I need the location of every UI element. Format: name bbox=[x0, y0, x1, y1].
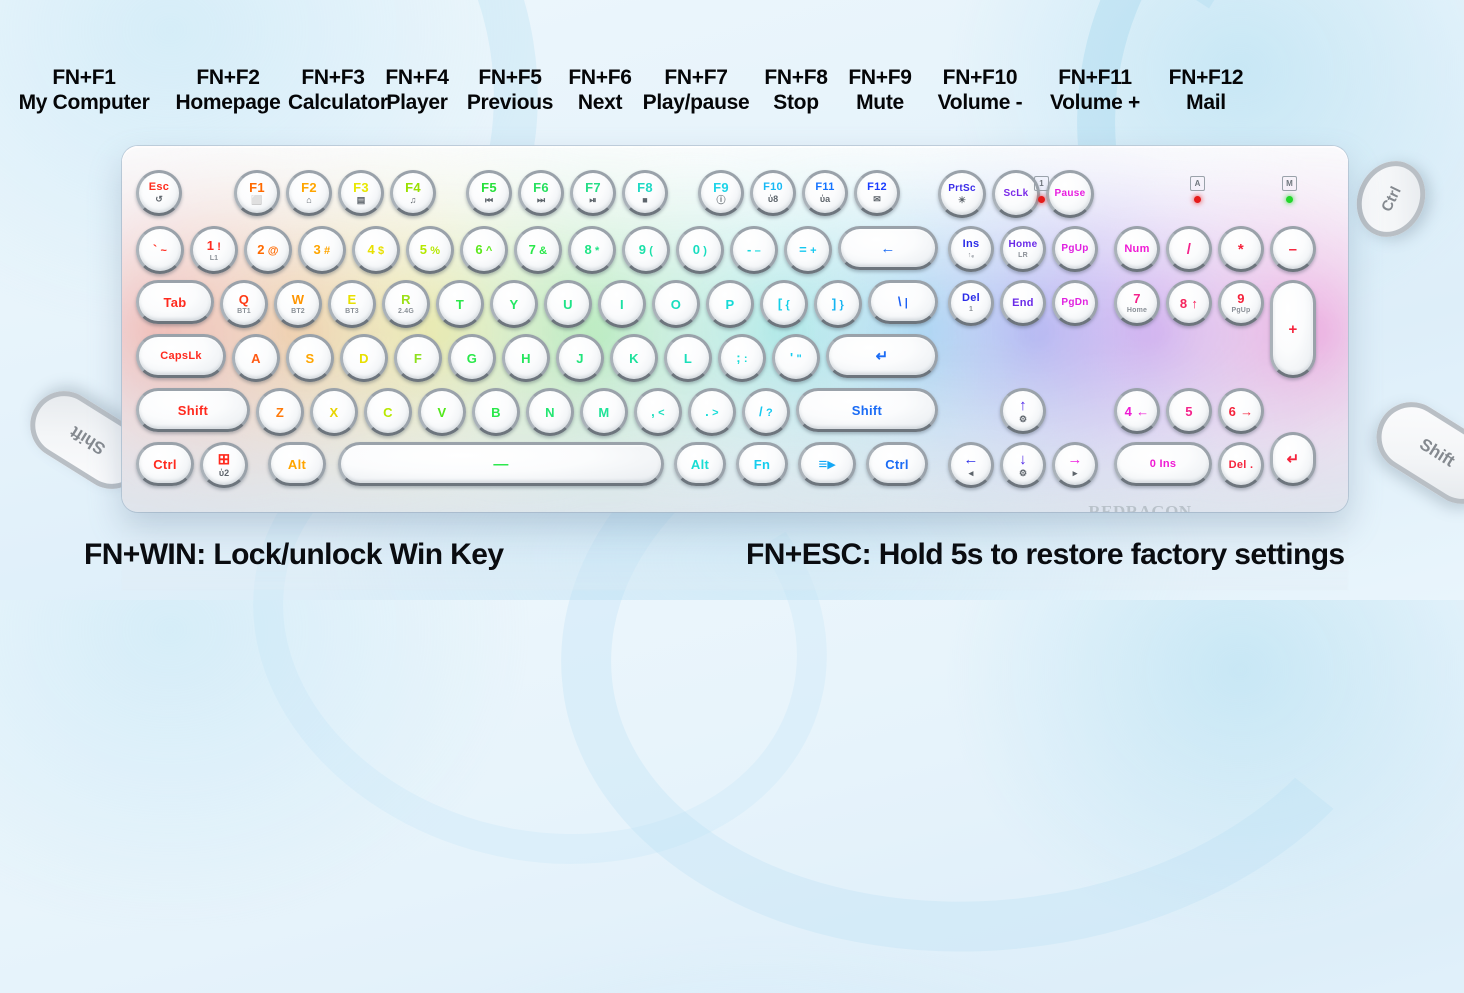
key-legend-secondary: – bbox=[755, 246, 761, 257]
key-legend: 8 ↑ bbox=[1180, 297, 1198, 310]
key-legend: ↵ bbox=[876, 349, 889, 364]
fn-shortcut-function: Previous bbox=[456, 91, 564, 116]
key-legend: 3# bbox=[314, 243, 331, 257]
key-legend: V bbox=[438, 406, 447, 419]
key-legend-secondary: ~ bbox=[160, 246, 167, 257]
fn-shortcut-function: Volume + bbox=[1036, 91, 1154, 116]
key-function-icon: ☀ bbox=[958, 196, 966, 205]
fn-shortcut-combo: FN+F5 bbox=[456, 66, 564, 91]
key-insert[interactable]: Ins↑ₑ bbox=[948, 226, 994, 272]
indicator-label: A bbox=[1190, 176, 1205, 191]
key-function-icon: ⌂ bbox=[306, 196, 311, 205]
key-legend: F5 bbox=[481, 181, 497, 194]
key-minus[interactable]: -– bbox=[730, 226, 778, 274]
key-legend: F9 bbox=[713, 181, 729, 194]
key-legend: '" bbox=[790, 351, 802, 365]
fn-shortcut-combo: FN+F9 bbox=[836, 66, 924, 91]
key-esc[interactable]: Esc↺ bbox=[136, 170, 182, 216]
key-legend: Q bbox=[239, 293, 249, 306]
key-numpad-multiply[interactable]: * bbox=[1218, 226, 1264, 272]
key-legend: Y bbox=[510, 298, 519, 311]
key-win[interactable]: ⊞ὑ2 bbox=[200, 442, 248, 488]
key-f4[interactable]: F4♫ bbox=[390, 170, 436, 216]
key-legend: Ins bbox=[963, 239, 980, 250]
key-function-icon: ὐ8 bbox=[768, 195, 778, 204]
key-legend: 6 → bbox=[1229, 405, 1254, 418]
fn-shortcut-combo: FN+F7 bbox=[636, 66, 756, 91]
key-numpad-5[interactable]: 5 bbox=[1166, 388, 1212, 434]
key-legend-primary: 1 bbox=[207, 239, 215, 252]
key-legend: Shift bbox=[178, 404, 208, 417]
key-sublegend: BT2 bbox=[291, 308, 305, 315]
key-period[interactable]: .> bbox=[688, 388, 736, 436]
key-legend-primary: 9 bbox=[639, 243, 647, 256]
key-legend: /? bbox=[759, 405, 773, 419]
key-h[interactable]: H bbox=[502, 334, 550, 382]
key-menu[interactable]: ≡▸ bbox=[798, 442, 856, 486]
keyboard-keys-layer: Esc↺F1⬜F2⌂F3▤F4♫F5⏮F6⏭F7⏯F8■F9ⓘF10ὐ8F11ὐ… bbox=[122, 146, 1348, 512]
key-legend-secondary: ! bbox=[217, 242, 221, 253]
key-legend: + bbox=[1288, 322, 1297, 337]
key-legend: 7 bbox=[1133, 292, 1141, 305]
key-legend: F11 bbox=[815, 182, 834, 193]
key-4[interactable]: 4$ bbox=[352, 226, 400, 274]
key-legend: F bbox=[414, 352, 422, 365]
key-legend: / bbox=[1187, 242, 1191, 257]
key-numpad-divide[interactable]: / bbox=[1166, 226, 1212, 272]
key-legend: R bbox=[401, 293, 411, 306]
key-legend-primary: / bbox=[759, 405, 763, 418]
key-space[interactable]: — bbox=[338, 442, 664, 486]
key-legend: ↑ bbox=[1019, 398, 1027, 413]
key-legend: * bbox=[1238, 242, 1244, 257]
key-m[interactable]: M bbox=[580, 388, 628, 436]
key-comma[interactable]: ,< bbox=[634, 388, 682, 436]
key-legend: 7& bbox=[529, 243, 548, 257]
key-legend: 0 Ins bbox=[1150, 459, 1177, 470]
key-legend: 2@ bbox=[257, 243, 279, 257]
key-numpad-enter[interactable]: ↵ bbox=[1270, 432, 1316, 486]
key-legend: ≡▸ bbox=[819, 457, 836, 472]
key-capslock[interactable]: CapsLk bbox=[136, 334, 226, 378]
key-legend: -– bbox=[747, 243, 761, 257]
key-numpad-decimal[interactable]: Del . bbox=[1218, 442, 1264, 488]
key-legend-primary: 4 bbox=[368, 243, 376, 256]
key-legend: 5 bbox=[1185, 405, 1193, 418]
key-legend-secondary: % bbox=[430, 246, 440, 257]
key-numpad-8[interactable]: 8 ↑ bbox=[1166, 280, 1212, 326]
indicator-caps-lock: A bbox=[1190, 176, 1205, 203]
key-numlock[interactable]: Num bbox=[1114, 226, 1160, 272]
key-d[interactable]: D bbox=[340, 334, 388, 382]
key-equal[interactable]: =+ bbox=[784, 226, 832, 274]
key-function-icon: ⬜ bbox=[251, 196, 262, 205]
key-arrow-up[interactable]: ↑⚙ bbox=[1000, 388, 1046, 434]
key-i[interactable]: I bbox=[598, 280, 646, 328]
key-sublegend: BT3 bbox=[345, 308, 359, 315]
fn-shortcut-combo: FN+F3 bbox=[288, 66, 378, 91]
key-function-icon: ⏭ bbox=[537, 196, 545, 205]
key-pagedown[interactable]: PgDn bbox=[1052, 280, 1098, 326]
key-legend: ;: bbox=[736, 351, 748, 365]
fn-shortcut-function: Stop bbox=[756, 91, 836, 116]
key-legend: PrtSc bbox=[948, 184, 976, 194]
fn-shortcut-function: Player bbox=[378, 91, 456, 116]
key-legend: Alt bbox=[288, 458, 306, 471]
key-legend: D bbox=[359, 352, 369, 365]
key-legend: L bbox=[684, 352, 692, 365]
key-legend: S bbox=[306, 352, 315, 365]
key-legend: F6 bbox=[533, 181, 549, 194]
key-ctrl-right[interactable]: Ctrl bbox=[866, 442, 928, 486]
key-6[interactable]: 6^ bbox=[460, 226, 508, 274]
key-legend-secondary: ( bbox=[649, 246, 653, 257]
key-legend: Pause bbox=[1055, 189, 1086, 199]
key-slash[interactable]: /? bbox=[742, 388, 790, 436]
indicator-label: M bbox=[1282, 176, 1297, 191]
fn-shortcut-combo: FN+F8 bbox=[756, 66, 836, 91]
key-p[interactable]: P bbox=[706, 280, 754, 328]
key-7[interactable]: 7& bbox=[514, 226, 562, 274]
fn-shortcut-function: Play/pause bbox=[636, 91, 756, 116]
key-numpad-plus[interactable]: + bbox=[1270, 280, 1316, 378]
key-legend: → bbox=[1067, 452, 1082, 467]
key-legend: 0) bbox=[693, 243, 708, 257]
key-legend: P bbox=[726, 298, 735, 311]
key-numpad-7[interactable]: 7Home bbox=[1114, 280, 1160, 326]
key-legend: 9 bbox=[1237, 292, 1245, 305]
key-home[interactable]: HomeLR bbox=[1000, 226, 1046, 272]
key-bracket-right[interactable]: ]} bbox=[814, 280, 862, 328]
key-legend-primary: ] bbox=[832, 297, 837, 310]
redragon-logo: REDRAGON bbox=[1080, 502, 1200, 512]
fn-shortcut-combo: FN+F11 bbox=[1036, 66, 1154, 91]
key-b[interactable]: B bbox=[472, 388, 520, 436]
key-n[interactable]: N bbox=[526, 388, 574, 436]
key-legend: ⊞ bbox=[218, 452, 231, 467]
indicator-led-dot bbox=[1038, 196, 1045, 203]
key-function-icon: ⚙ bbox=[1019, 469, 1027, 478]
key-function-icon: ⚙ bbox=[1019, 415, 1027, 424]
key-legend: =+ bbox=[799, 243, 817, 257]
key-l[interactable]: L bbox=[664, 334, 712, 382]
fn-shortcut-function: Volume - bbox=[924, 91, 1036, 116]
floating-keycap-ctrl: Ctrl bbox=[1344, 149, 1438, 248]
key-2[interactable]: 2@ bbox=[244, 226, 292, 274]
key-legend-secondary: > bbox=[712, 408, 719, 419]
key-legend: Del . bbox=[1229, 460, 1254, 471]
key-t[interactable]: T bbox=[436, 280, 484, 328]
key-function-icon: ✉ bbox=[873, 195, 881, 204]
key-f9[interactable]: F9ⓘ bbox=[698, 170, 744, 216]
key-legend: O bbox=[671, 298, 681, 311]
key-legend: 4 ← bbox=[1125, 405, 1150, 418]
key-backtick[interactable]: `~ bbox=[136, 226, 184, 274]
indicator-label: 1 bbox=[1034, 176, 1049, 191]
key-legend: 1! bbox=[207, 239, 222, 253]
key-delete[interactable]: Del1 bbox=[948, 280, 994, 326]
key-q[interactable]: QBT1 bbox=[220, 280, 268, 328]
key-numpad-4[interactable]: 4 ← bbox=[1114, 388, 1160, 434]
key-numpad-0[interactable]: 0 Ins bbox=[1114, 442, 1212, 486]
key-scrolllock[interactable]: ScLk bbox=[992, 170, 1040, 218]
fn-shortcut-5: FN+F5Previous bbox=[456, 66, 564, 116]
fn-shortcut-combo: FN+F1 bbox=[0, 66, 168, 91]
key-legend-secondary: $ bbox=[378, 246, 384, 257]
key-function-icon: ↺ bbox=[155, 195, 163, 204]
fn-shortcut-9: FN+F9Mute bbox=[836, 66, 924, 116]
key-legend-primary: 3 bbox=[314, 243, 322, 256]
key-legend-primary: 8 bbox=[584, 243, 592, 256]
key-legend: C bbox=[383, 406, 393, 419]
key-legend-secondary: # bbox=[324, 246, 330, 257]
key-v[interactable]: V bbox=[418, 388, 466, 436]
key-legend: F7 bbox=[585, 181, 601, 194]
key-legend: U bbox=[563, 298, 573, 311]
key-numpad-minus[interactable]: – bbox=[1270, 226, 1316, 272]
key-legend: – bbox=[1289, 242, 1298, 257]
key-x[interactable]: X bbox=[310, 388, 358, 436]
key-arrow-right[interactable]: →▸ bbox=[1052, 442, 1098, 488]
key-y[interactable]: Y bbox=[490, 280, 538, 328]
fn-shortcut-function: Mute bbox=[836, 91, 924, 116]
key-function-icon: ὑ2 bbox=[219, 469, 229, 478]
indicator-led-dot bbox=[1194, 196, 1201, 203]
key-pageup[interactable]: PgUp bbox=[1052, 226, 1098, 272]
key-u[interactable]: U bbox=[544, 280, 592, 328]
key-legend: J bbox=[576, 352, 584, 365]
key-legend: G bbox=[467, 352, 477, 365]
key-legend: ,< bbox=[651, 405, 665, 419]
key-legend: F2 bbox=[301, 181, 317, 194]
fn-shortcut-8: FN+F8Stop bbox=[756, 66, 836, 116]
key-legend-primary: ' bbox=[790, 351, 793, 364]
key-semicolon[interactable]: ;: bbox=[718, 334, 766, 382]
key-legend-primary: ` bbox=[153, 243, 158, 256]
fn-shortcut-combo: FN+F10 bbox=[924, 66, 1036, 91]
key-8[interactable]: 8* bbox=[568, 226, 616, 274]
key-3[interactable]: 3# bbox=[298, 226, 346, 274]
fn-shortcut-header: FN+F1My ComputerFN+F2HomepageFN+F3Calcul… bbox=[0, 66, 1464, 116]
key-legend-primary: 2 bbox=[257, 243, 265, 256]
key-quote[interactable]: '" bbox=[772, 334, 820, 382]
key-legend: PgUp bbox=[1061, 244, 1088, 254]
key-legend-secondary: * bbox=[595, 246, 600, 257]
key-sublegend: Home bbox=[1127, 307, 1147, 314]
fn-shortcut-3: FN+F3Calculator bbox=[288, 66, 378, 116]
key-pause[interactable]: Pause bbox=[1046, 170, 1094, 218]
key-f12[interactable]: F12✉ bbox=[854, 170, 900, 216]
indicator-mode: M bbox=[1282, 176, 1297, 203]
key-9[interactable]: 9( bbox=[622, 226, 670, 274]
key-legend: ScLk bbox=[1003, 189, 1028, 199]
key-numpad-9[interactable]: 9PgUp bbox=[1218, 280, 1264, 326]
key-sublegend: L1 bbox=[210, 255, 219, 262]
key-f[interactable]: F bbox=[394, 334, 442, 382]
key-legend-primary: = bbox=[799, 243, 807, 256]
key-legend: A bbox=[251, 352, 261, 365]
key-legend-primary: , bbox=[651, 405, 655, 418]
key-legend: Del bbox=[962, 293, 980, 304]
key-a[interactable]: A bbox=[232, 334, 280, 382]
key-legend: H bbox=[521, 352, 531, 365]
key-legend: F10 bbox=[763, 182, 783, 193]
key-legend: Num bbox=[1124, 244, 1149, 255]
key-backspace[interactable]: ← bbox=[838, 226, 938, 270]
key-legend-secondary: ) bbox=[703, 246, 707, 257]
key-legend: ↓ bbox=[1019, 452, 1027, 467]
key-sublegend: LR bbox=[1018, 252, 1028, 259]
key-0[interactable]: 0) bbox=[676, 226, 724, 274]
key-g[interactable]: G bbox=[448, 334, 496, 382]
key-f2[interactable]: F2⌂ bbox=[286, 170, 332, 216]
key-sublegend: ↑ₑ bbox=[968, 252, 975, 259]
key-j[interactable]: J bbox=[556, 334, 604, 382]
key-legend: 6^ bbox=[475, 243, 492, 257]
fn-shortcut-function: Mail bbox=[1154, 91, 1258, 116]
key-tab[interactable]: Tab bbox=[136, 280, 214, 324]
key-backslash[interactable]: \| bbox=[868, 280, 938, 324]
key-sublegend: BT1 bbox=[237, 308, 251, 315]
key-legend: `~ bbox=[153, 243, 167, 257]
key-w[interactable]: WBT2 bbox=[274, 280, 322, 328]
fn-shortcut-7: FN+F7Play/pause bbox=[636, 66, 756, 116]
key-legend: T bbox=[456, 298, 464, 311]
key-legend: I bbox=[620, 298, 624, 311]
key-arrow-down[interactable]: ↓⚙ bbox=[1000, 442, 1046, 488]
key-function-icon: ♫ bbox=[410, 196, 417, 205]
key-legend: — bbox=[493, 457, 508, 472]
key-legend: 9( bbox=[639, 243, 654, 257]
key-legend: F12 bbox=[867, 182, 887, 193]
key-legend-secondary: : bbox=[744, 354, 748, 365]
key-legend: Alt bbox=[691, 458, 709, 471]
key-legend: \| bbox=[898, 295, 908, 309]
caption-win-lock: FN+WIN: Lock/unlock Win Key bbox=[84, 538, 503, 572]
fn-shortcut-function: Next bbox=[564, 91, 636, 116]
key-legend: X bbox=[330, 406, 339, 419]
fn-shortcut-12: FN+F12Mail bbox=[1154, 66, 1258, 116]
key-s[interactable]: S bbox=[286, 334, 334, 382]
key-legend-primary: 5 bbox=[420, 243, 428, 256]
key-function-icon: ⏮ bbox=[485, 196, 493, 205]
key-legend: F4 bbox=[405, 181, 421, 194]
key-fn[interactable]: Fn bbox=[736, 442, 788, 486]
fn-shortcut-4: FN+F4Player bbox=[378, 66, 456, 116]
key-numpad-6[interactable]: 6 → bbox=[1218, 388, 1264, 434]
key-legend-primary: 7 bbox=[529, 243, 537, 256]
key-f10[interactable]: F10ὐ8 bbox=[750, 170, 796, 216]
key-legend: ← bbox=[963, 452, 978, 467]
fn-shortcut-combo: FN+F12 bbox=[1154, 66, 1258, 91]
key-legend: F1 bbox=[249, 181, 265, 194]
key-legend: Fn bbox=[754, 458, 770, 471]
key-f7[interactable]: F7⏯ bbox=[570, 170, 616, 216]
key-bracket-left[interactable]: [{ bbox=[760, 280, 808, 328]
key-o[interactable]: O bbox=[652, 280, 700, 328]
key-sublegend: 2.4G bbox=[398, 308, 414, 315]
key-legend: Ctrl bbox=[153, 458, 177, 471]
key-legend: Shift bbox=[852, 404, 882, 417]
key-legend: PgDn bbox=[1061, 298, 1088, 308]
key-legend: ]} bbox=[832, 297, 844, 311]
fn-shortcut-function: Homepage bbox=[168, 91, 288, 116]
key-function-icon: ■ bbox=[642, 196, 647, 205]
fn-shortcut-1: FN+F1My Computer bbox=[0, 66, 168, 116]
fn-shortcut-2: FN+F2Homepage bbox=[168, 66, 288, 116]
key-shift-right[interactable]: Shift bbox=[796, 388, 938, 432]
key-f6[interactable]: F6⏭ bbox=[518, 170, 564, 216]
key-legend-primary: 0 bbox=[693, 243, 701, 256]
key-legend-secondary: ? bbox=[766, 408, 773, 419]
key-function-icon: ◂ bbox=[969, 469, 974, 478]
fn-shortcut-function: My Computer bbox=[0, 91, 168, 116]
key-legend: B bbox=[491, 406, 501, 419]
key-legend-primary: . bbox=[705, 405, 709, 418]
key-enter[interactable]: ↵ bbox=[826, 334, 938, 378]
key-f1[interactable]: F1⬜ bbox=[234, 170, 280, 216]
key-legend-secondary: } bbox=[840, 300, 845, 311]
key-f5[interactable]: F5⏮ bbox=[466, 170, 512, 216]
key-sublegend: 1 bbox=[969, 306, 973, 313]
caption-factory-reset: FN+ESC: Hold 5s to restore factory setti… bbox=[746, 538, 1345, 572]
key-function-icon: ▤ bbox=[357, 196, 366, 205]
fn-shortcut-6: FN+F6Next bbox=[564, 66, 636, 116]
key-alt-left[interactable]: Alt bbox=[268, 442, 326, 486]
key-shift-left[interactable]: Shift bbox=[136, 388, 250, 432]
key-k[interactable]: K bbox=[610, 334, 658, 382]
key-f8[interactable]: F8■ bbox=[622, 170, 668, 216]
key-alt-right[interactable]: Alt bbox=[674, 442, 726, 486]
key-legend-secondary: < bbox=[658, 408, 665, 419]
key-prtsc[interactable]: PrtSc☀ bbox=[938, 170, 986, 218]
key-arrow-left[interactable]: ←◂ bbox=[948, 442, 994, 488]
fn-shortcut-combo: FN+F2 bbox=[168, 66, 288, 91]
key-legend-secondary: " bbox=[796, 354, 802, 365]
key-e[interactable]: EBT3 bbox=[328, 280, 376, 328]
key-legend: Tab bbox=[163, 296, 186, 309]
key-legend: Esc bbox=[149, 182, 169, 193]
key-legend: [{ bbox=[778, 297, 790, 311]
key-1[interactable]: 1!L1 bbox=[190, 226, 238, 274]
key-function-icon: ⏯ bbox=[589, 196, 596, 205]
key-legend-primary: 6 bbox=[475, 243, 483, 256]
key-legend-secondary: + bbox=[810, 246, 817, 257]
fn-shortcut-10: FN+F10Volume - bbox=[924, 66, 1036, 116]
fn-shortcut-combo: FN+F6 bbox=[564, 66, 636, 91]
keyboard-product-image: Esc↺F1⬜F2⌂F3▤F4♫F5⏮F6⏭F7⏯F8■F9ⓘF10ὐ8F11ὐ… bbox=[122, 146, 1348, 512]
key-legend-primary: ; bbox=[736, 351, 741, 364]
key-legend-secondary: | bbox=[905, 298, 908, 309]
key-sublegend: PgUp bbox=[1231, 307, 1250, 314]
key-c[interactable]: C bbox=[364, 388, 412, 436]
key-f3[interactable]: F3▤ bbox=[338, 170, 384, 216]
floating-keycap-shift-right: Shift bbox=[1363, 389, 1464, 517]
key-legend: ↵ bbox=[1287, 452, 1300, 467]
key-legend-primary: \ bbox=[898, 295, 902, 308]
key-legend: .> bbox=[705, 405, 719, 419]
fn-shortcut-function: Calculator bbox=[288, 91, 378, 116]
key-z[interactable]: Z bbox=[256, 388, 304, 436]
key-legend: ← bbox=[880, 241, 895, 256]
key-r[interactable]: R2.4G bbox=[382, 280, 430, 328]
key-ctrl-left[interactable]: Ctrl bbox=[136, 442, 194, 486]
key-f11[interactable]: F11ὐa bbox=[802, 170, 848, 216]
key-5[interactable]: 5% bbox=[406, 226, 454, 274]
key-legend: K bbox=[629, 352, 639, 365]
key-end[interactable]: End bbox=[1000, 280, 1046, 326]
key-legend-secondary: & bbox=[539, 246, 547, 257]
